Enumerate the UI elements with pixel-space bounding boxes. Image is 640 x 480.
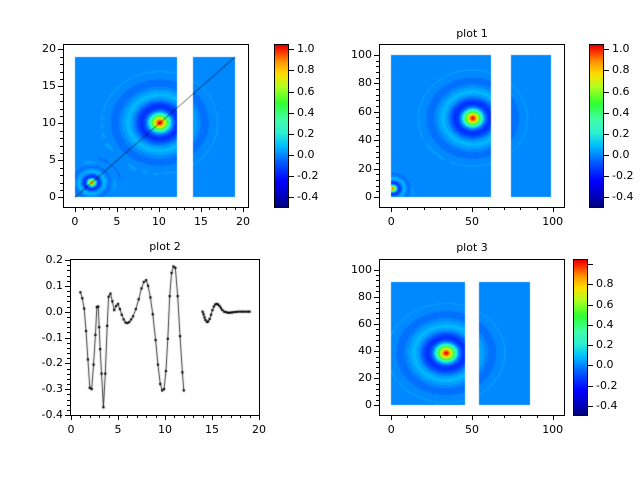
panel-bottom-right-xtick xyxy=(472,415,473,420)
panel-bottom-right-ytick-minor xyxy=(376,362,379,363)
panel-bottom-right-ytick-minor xyxy=(376,280,379,281)
panel-bottom-right-yticklabel: 20 xyxy=(328,371,372,384)
panel-bottom-right-ytick-minor xyxy=(376,400,379,401)
panel-bottom-right-cbar-tick xyxy=(588,264,593,265)
panel-bottom-right-xtick-minor xyxy=(440,415,441,418)
panel-bottom-right-xtick xyxy=(553,415,554,420)
panel-bottom-right-axes xyxy=(379,259,565,416)
panel-bottom-right-ytick-minor xyxy=(376,395,379,396)
panel-bottom-right-cbar-tick xyxy=(588,305,593,306)
panel-bottom-right-cbar-ticklabel: 0.4 xyxy=(596,318,614,331)
panel-bottom-right-cbar-ticklabel: 0.6 xyxy=(596,298,614,311)
panel-bottom-right-xtick xyxy=(391,415,392,420)
panel-bottom-right-ytick xyxy=(374,270,379,271)
panel-bottom-right-ytick-minor xyxy=(376,373,379,374)
panel-bottom-right-plot-area xyxy=(380,260,564,415)
panel-bottom-right-ytick xyxy=(374,297,379,298)
panel-bottom-right-xtick-minor xyxy=(407,415,408,418)
panel-bottom-right-ytick-minor xyxy=(376,389,379,390)
panel-bottom-right-xtick-minor xyxy=(424,415,425,418)
panel-bottom-right-yticklabel: 100 xyxy=(328,263,372,276)
panel-bottom-right-cbar-tick xyxy=(588,386,593,387)
panel-bottom-right-cbar-ticklabel: 0.0 xyxy=(596,358,614,371)
panel-bottom-right-xtick-minor xyxy=(520,415,521,418)
figure-canvas: 05101520051015201.00.80.60.40.20.0-0.2-0… xyxy=(0,0,640,480)
panel-bottom-right-yticklabel: 0 xyxy=(328,398,372,411)
panel-bottom-right-ytick-minor xyxy=(376,384,379,385)
panel-bottom-right-ytick-minor xyxy=(376,318,379,319)
panel-bottom-right-ytick xyxy=(374,351,379,352)
panel-bottom-right-colorbar xyxy=(573,259,588,416)
panel-bottom-right-ytick-minor xyxy=(376,340,379,341)
panel-bottom-right-cbar-ticklabel: 0.2 xyxy=(596,338,614,351)
panel-bottom-right-yticklabel: 40 xyxy=(328,344,372,357)
panel-bottom-right-xtick-minor xyxy=(488,415,489,418)
panel-bottom-right-ytick-minor xyxy=(376,302,379,303)
panel-bottom-right-xticklabel: 50 xyxy=(452,423,492,436)
panel-bottom-right-cbar-tick xyxy=(588,284,593,285)
panel-bottom-right-xtick-minor xyxy=(456,415,457,418)
panel-bottom-right-ytick-minor xyxy=(376,313,379,314)
panel-bottom-right-title: plot 3 xyxy=(379,241,565,254)
panel-bottom-right-ytick-minor xyxy=(376,346,379,347)
panel-bottom-right-xtick-minor xyxy=(504,415,505,418)
panel-bottom-right-cbar-ticklabel: -0.2 xyxy=(596,379,617,392)
panel-bottom-right-cbar-tick xyxy=(588,406,593,407)
panel-bottom-right-ytick-minor xyxy=(376,335,379,336)
panel-bottom-right-xticklabel: 0 xyxy=(371,423,411,436)
panel-bottom-right-yticklabel: 60 xyxy=(328,317,372,330)
panel-bottom-right-ytick xyxy=(374,405,379,406)
panel-bottom-right-cbar-tick xyxy=(588,325,593,326)
panel-bottom-right-ytick xyxy=(374,378,379,379)
panel-bottom-right-ytick-minor xyxy=(376,367,379,368)
panel-bottom-right-colorbar-gradient xyxy=(574,260,587,415)
panel-bottom-right-cbar-tick xyxy=(588,345,593,346)
panel-bottom-right-ytick-minor xyxy=(376,286,379,287)
panel-bottom-right: plot 30501000204060801000.80.60.40.20.0-… xyxy=(0,0,640,480)
panel-bottom-right-ytick-minor xyxy=(376,291,379,292)
panel-bottom-right-xticklabel: 100 xyxy=(533,423,573,436)
panel-bottom-right-yticklabel: 80 xyxy=(328,290,372,303)
panel-bottom-right-xtick-minor xyxy=(537,415,538,418)
panel-bottom-right-ytick-minor xyxy=(376,357,379,358)
panel-bottom-right-ytick-minor xyxy=(376,329,379,330)
panel-bottom-right-cbar-ticklabel: 0.8 xyxy=(596,277,614,290)
panel-bottom-right-cbar-tick xyxy=(588,365,593,366)
panel-bottom-right-ytick-minor xyxy=(376,275,379,276)
panel-bottom-right-cbar-ticklabel: -0.4 xyxy=(596,399,617,412)
panel-bottom-right-ytick-minor xyxy=(376,308,379,309)
panel-bottom-right-ytick xyxy=(374,324,379,325)
